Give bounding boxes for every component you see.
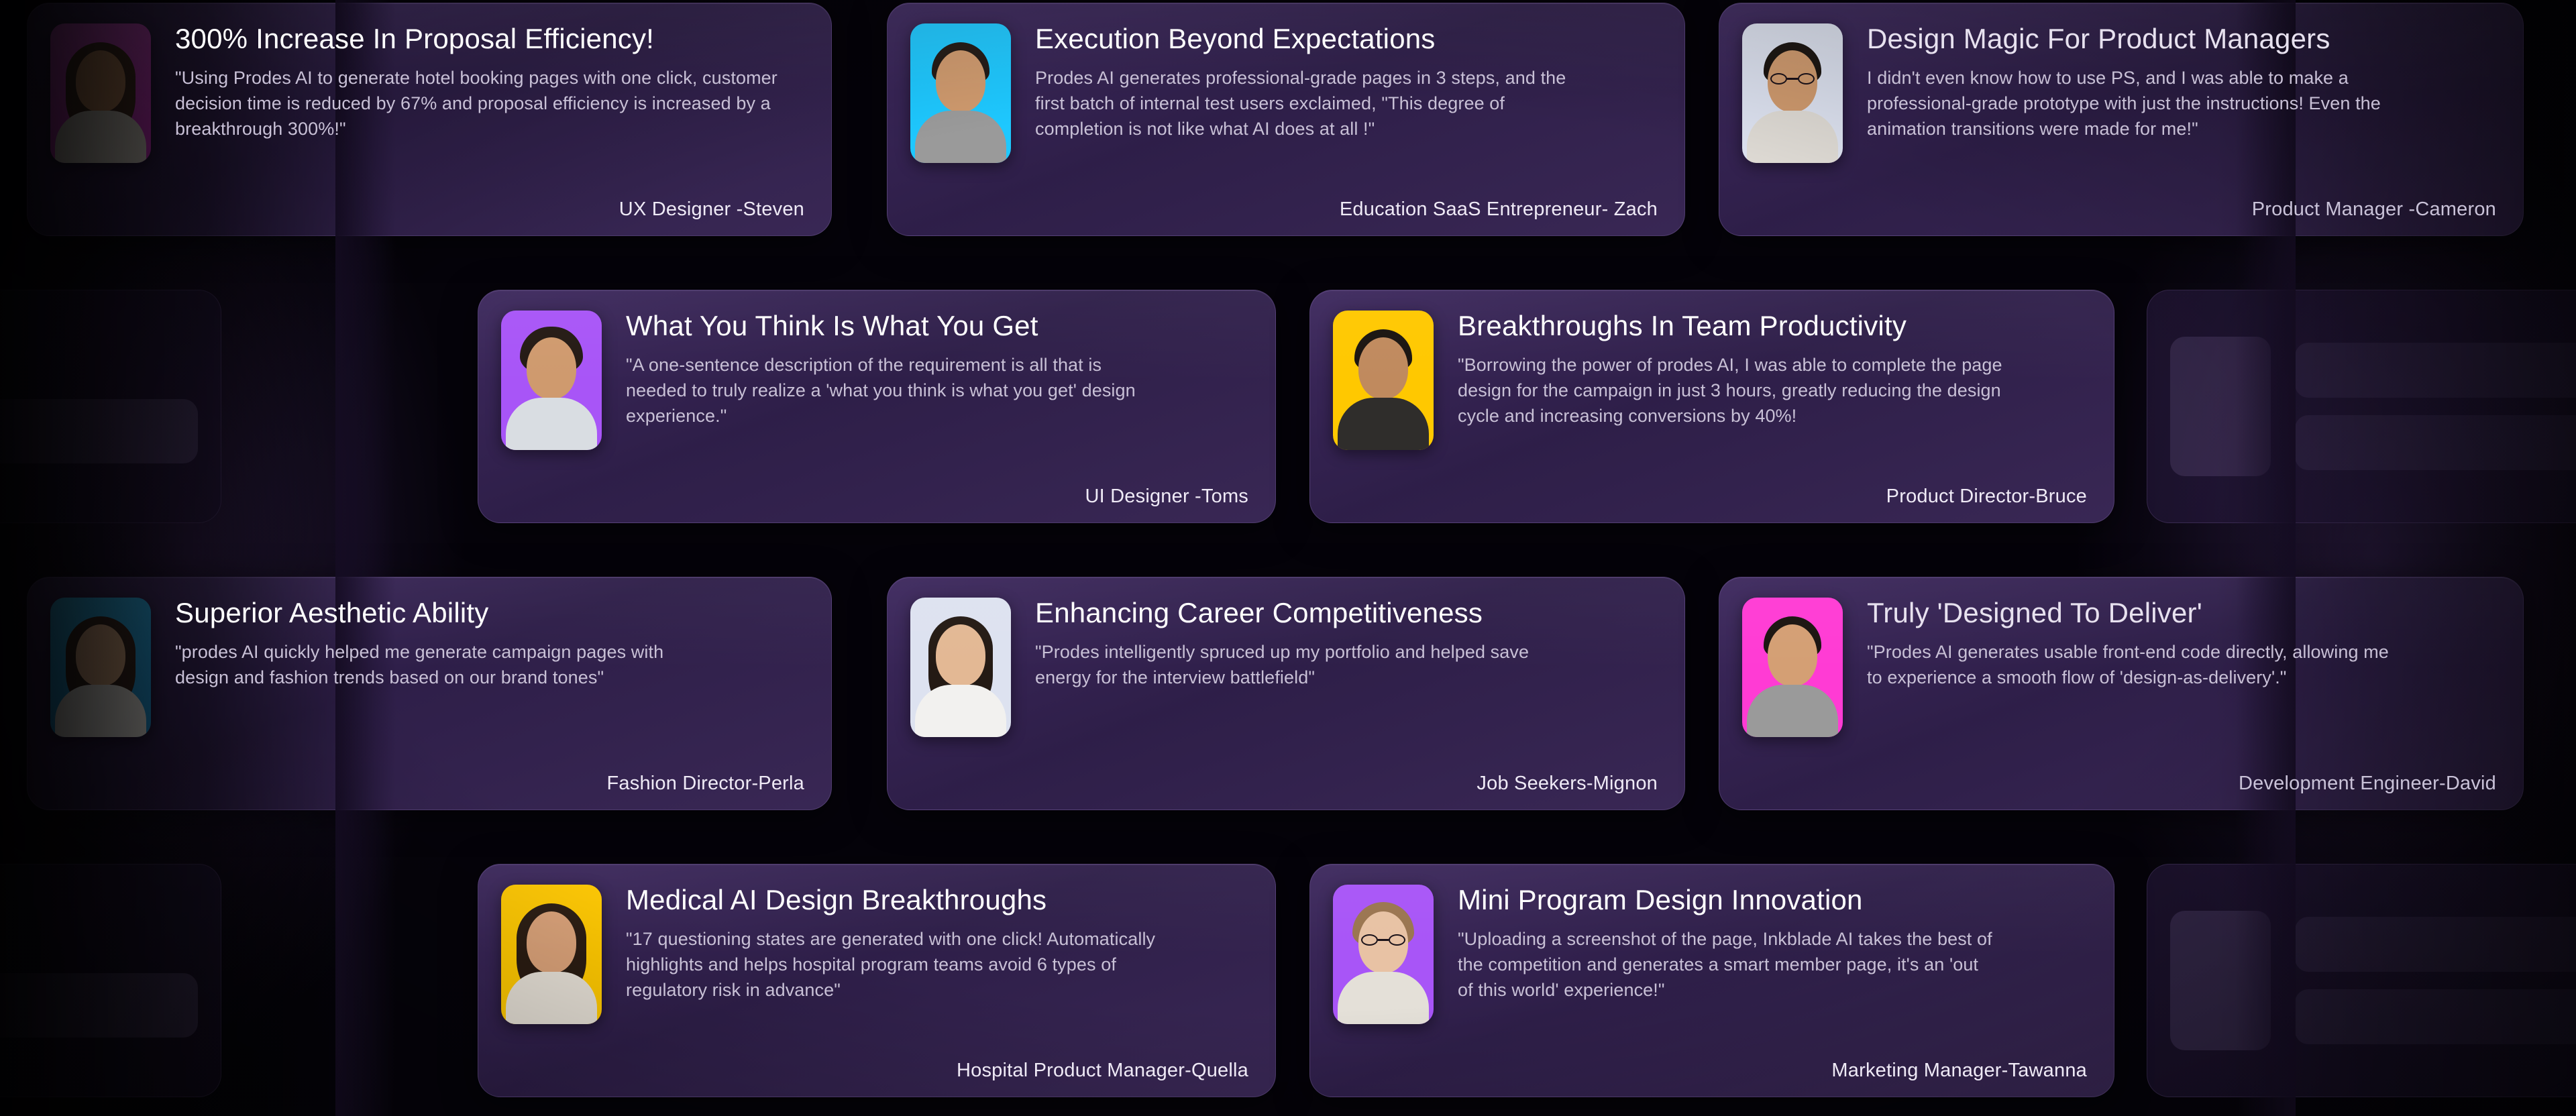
- testimonial-author: Job Seekers-Mignon: [1035, 773, 1662, 795]
- testimonial-quote: Prodes AI generates professional-grade p…: [1035, 66, 1572, 142]
- skeleton-text-bar: [2295, 917, 2576, 972]
- testimonial-quote: "Prodes AI generates usable front-end co…: [1867, 640, 2404, 691]
- testimonial-quote: "Using Prodes AI to generate hotel booki…: [175, 66, 808, 142]
- avatar: [501, 311, 602, 450]
- testimonial-quote: "17 questioning states are generated wit…: [626, 927, 1163, 1003]
- avatar: [50, 23, 151, 163]
- avatar: [1333, 311, 1434, 450]
- testimonial-quote: "prodes AI quickly helped me generate ca…: [175, 640, 705, 691]
- skeleton-text-bar: [0, 399, 198, 463]
- avatar: [501, 885, 602, 1024]
- testimonial-wall: 300% Increase In Proposal Efficiency! "U…: [0, 0, 2576, 1116]
- skeleton-card-right: [2147, 864, 2576, 1097]
- testimonial-quote: "Borrowing the power of prodes AI, I was…: [1458, 353, 2008, 429]
- testimonial-title: Design Magic For Product Managers: [1867, 23, 2500, 54]
- testimonial-row-1: 300% Increase In Proposal Efficiency! "U…: [0, 0, 2576, 239]
- skeleton-card-left: [0, 864, 221, 1097]
- skeleton-avatar-block: [2170, 911, 2271, 1050]
- testimonial-author: Marketing Manager-Tawanna: [1458, 1060, 2091, 1082]
- testimonial-title: Enhancing Career Competitiveness: [1035, 598, 1662, 628]
- avatar: [50, 598, 151, 737]
- testimonial-card[interactable]: Breakthroughs In Team Productivity "Borr…: [1309, 290, 2114, 523]
- testimonial-title: Execution Beyond Expectations: [1035, 23, 1662, 54]
- testimonial-row-2: What You Think Is What You Get "A one-se…: [0, 287, 2576, 526]
- testimonial-title: Mini Program Design Innovation: [1458, 885, 2091, 915]
- testimonial-card[interactable]: What You Think Is What You Get "A one-se…: [478, 290, 1276, 523]
- testimonial-author: Product Manager -Cameron: [1867, 199, 2500, 221]
- testimonial-row-4: Medical AI Design Breakthroughs "17 ques…: [0, 861, 2576, 1100]
- testimonial-title: Superior Aesthetic Ability: [175, 598, 808, 628]
- testimonial-title: Medical AI Design Breakthroughs: [626, 885, 1252, 915]
- testimonial-author: Hospital Product Manager-Quella: [626, 1060, 1252, 1082]
- skeleton-avatar-block: [2170, 337, 2271, 476]
- avatar: [910, 23, 1011, 163]
- glasses-icon: [1361, 934, 1405, 946]
- avatar: [1742, 23, 1843, 163]
- testimonial-quote: I didn't even know how to use PS, and I …: [1867, 66, 2410, 142]
- testimonial-row-3: Superior Aesthetic Ability "prodes AI qu…: [0, 574, 2576, 813]
- testimonial-card[interactable]: Superior Aesthetic Ability "prodes AI qu…: [27, 577, 832, 810]
- testimonial-author: Development Engineer-David: [1867, 773, 2500, 795]
- skeleton-card-right: [2147, 290, 2576, 523]
- testimonial-card[interactable]: Mini Program Design Innovation "Uploadin…: [1309, 864, 2114, 1097]
- testimonial-author: Product Director-Bruce: [1458, 486, 2091, 508]
- testimonial-quote: "Uploading a screenshot of the page, Ink…: [1458, 927, 1994, 1003]
- glasses-icon: [1770, 73, 1815, 85]
- testimonial-card[interactable]: 300% Increase In Proposal Efficiency! "U…: [27, 3, 832, 236]
- testimonial-quote: "A one-sentence description of the requi…: [626, 353, 1163, 429]
- testimonial-title: Truly 'Designed To Deliver': [1867, 598, 2500, 628]
- testimonial-card[interactable]: Truly 'Designed To Deliver' "Prodes AI g…: [1719, 577, 2524, 810]
- testimonial-author: Education SaaS Entrepreneur- Zach: [1035, 199, 1662, 221]
- testimonial-quote: "Prodes intelligently spruced up my port…: [1035, 640, 1558, 691]
- testimonial-title: Breakthroughs In Team Productivity: [1458, 311, 2091, 341]
- avatar: [910, 598, 1011, 737]
- avatar: [1742, 598, 1843, 737]
- testimonial-card[interactable]: Medical AI Design Breakthroughs "17 ques…: [478, 864, 1276, 1097]
- skeleton-text-bar: [2295, 415, 2576, 470]
- skeleton-text-bar: [2295, 343, 2576, 398]
- skeleton-text-bar: [2295, 989, 2576, 1044]
- testimonial-title: What You Think Is What You Get: [626, 311, 1252, 341]
- testimonial-card[interactable]: Enhancing Career Competitiveness "Prodes…: [887, 577, 1685, 810]
- testimonial-author: Fashion Director-Perla: [175, 773, 808, 795]
- testimonial-author: UX Designer -Steven: [175, 199, 808, 221]
- testimonial-card[interactable]: Execution Beyond Expectations Prodes AI …: [887, 3, 1685, 236]
- skeleton-card-left: [0, 290, 221, 523]
- testimonial-card[interactable]: Design Magic For Product Managers I didn…: [1719, 3, 2524, 236]
- testimonial-author: UI Designer -Toms: [626, 486, 1252, 508]
- avatar: [1333, 885, 1434, 1024]
- testimonial-title: 300% Increase In Proposal Efficiency!: [175, 23, 808, 54]
- skeleton-text-bar: [0, 973, 198, 1038]
